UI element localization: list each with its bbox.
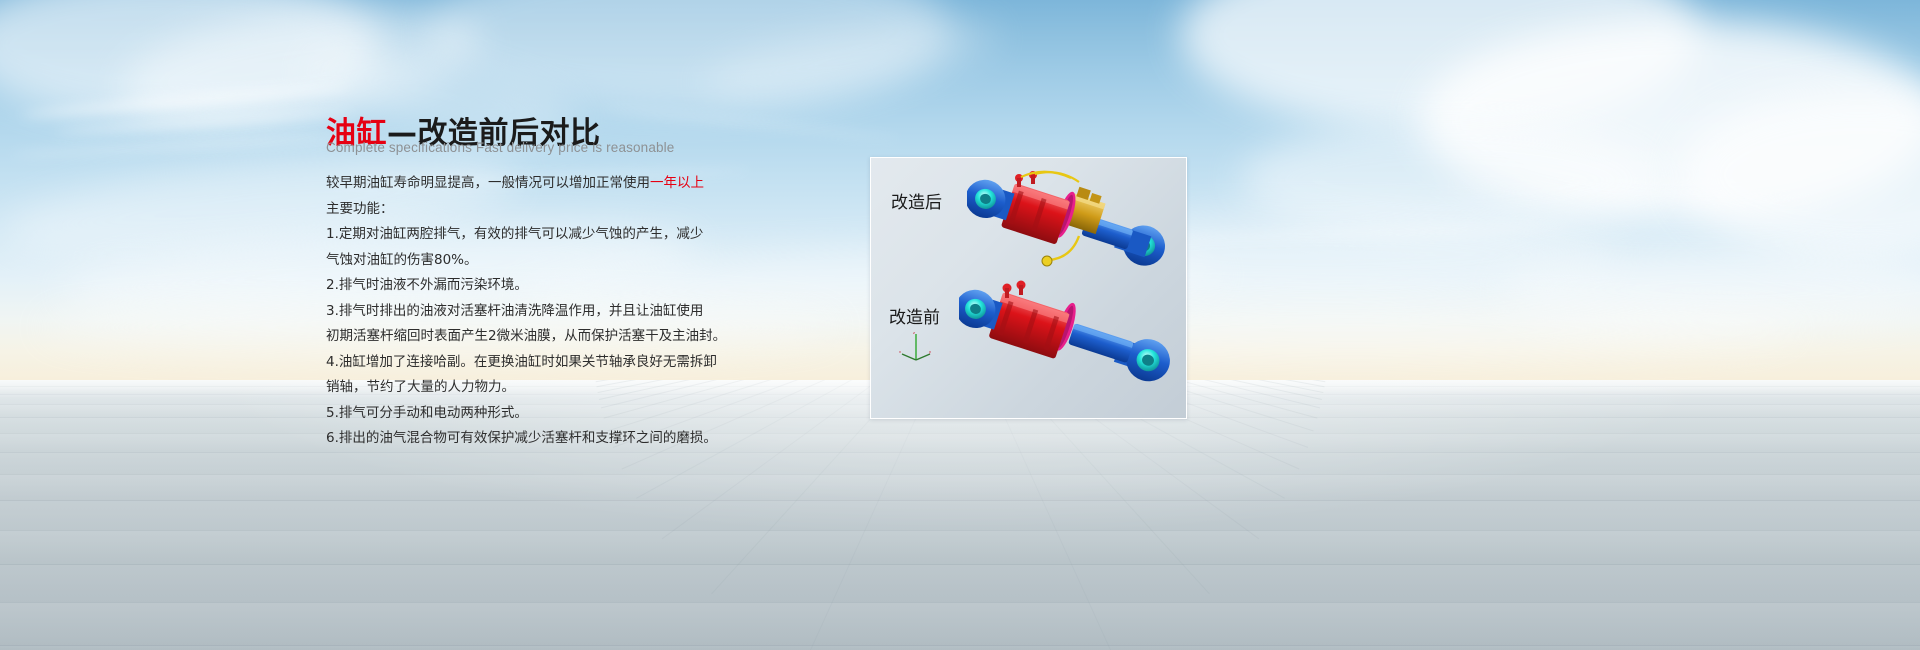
feature-line-item-3b: 初期活塞杆缩回时表面产生2微米油膜，从而保护活塞干及主油封。 [326, 324, 746, 350]
promo-banner: 油缸—改造前后对比 Complete specifications Fast d… [0, 0, 1920, 650]
feature-line-item-3a: 3.排气时排出的油液对活塞杆油清洗降温作用，并且让油缸使用 [326, 299, 746, 325]
feature-line-item-5: 5.排气可分手动和电动两种形式。 [326, 401, 746, 427]
feature-line-item-6: 6.排出的油气混合物可有效保护减少活塞杆和支撑环之间的磨损。 [326, 426, 746, 452]
feature-line-text: 2.排气时油液不外漏而污染环境。 [326, 277, 528, 293]
feature-line-item-2: 2.排气时油液不外漏而污染环境。 [326, 273, 746, 299]
banner-content: 油缸—改造前后对比 Complete specifications Fast d… [0, 0, 1920, 650]
feature-line-text: 1.定期对油缸两腔排气，有效的排气可以减少气蚀的产生，减少 [326, 226, 703, 242]
cylinder-render-before [959, 276, 1177, 388]
feature-description: 较早期油缸寿命明显提高，一般情况可以增加正常使用一年以上主要功能：1.定期对油缸… [326, 171, 746, 452]
svg-text:x: x [899, 349, 901, 354]
svg-text:y: y [929, 349, 931, 354]
feature-line-intro-a: 较早期油缸寿命明显提高，一般情况可以增加正常使用一年以上 [326, 171, 746, 197]
cylinder-render-after [967, 166, 1181, 274]
label-after-modification: 改造后 [891, 188, 942, 213]
feature-line-highlight: 一年以上 [650, 175, 704, 191]
coordinate-axis-triad-icon: z x y [899, 330, 933, 362]
feature-line-text: 4.油缸增加了连接哈副。在更换油缸时如果关节轴承良好无需拆卸 [326, 354, 717, 370]
feature-line-text: 3.排气时排出的油液对活塞杆油清洗降温作用，并且让油缸使用 [326, 303, 703, 319]
feature-line-text: 气蚀对油缸的伤害80%。 [326, 252, 478, 268]
feature-line-item-4b: 销轴，节约了大量的人力物力。 [326, 375, 746, 401]
product-comparison-image[interactable]: 改造后 改造前 z x y [870, 157, 1187, 419]
svg-text:z: z [913, 330, 915, 335]
feature-line-item-1b: 气蚀对油缸的伤害80%。 [326, 248, 746, 274]
feature-line-item-1a: 1.定期对油缸两腔排气，有效的排气可以减少气蚀的产生，减少 [326, 222, 746, 248]
feature-line-text: 较早期油缸寿命明显提高，一般情况可以增加正常使用 [326, 175, 650, 191]
feature-line-text: 销轴，节约了大量的人力物力。 [326, 379, 515, 395]
label-before-modification: 改造前 [889, 303, 940, 328]
feature-line-text: 5.排气可分手动和电动两种形式。 [326, 405, 528, 421]
feature-line-text: 主要功能： [326, 201, 394, 217]
feature-line-text: 6.排出的油气混合物可有效保护减少活塞杆和支撑环之间的磨损。 [326, 430, 717, 446]
page-subtitle: Complete specifications Fast delivery pr… [326, 140, 674, 155]
feature-line-item-4a: 4.油缸增加了连接哈副。在更换油缸时如果关节轴承良好无需拆卸 [326, 350, 746, 376]
feature-line-intro-b: 主要功能： [326, 197, 746, 223]
feature-line-text: 初期活塞杆缩回时表面产生2微米油膜，从而保护活塞干及主油封。 [326, 328, 726, 344]
